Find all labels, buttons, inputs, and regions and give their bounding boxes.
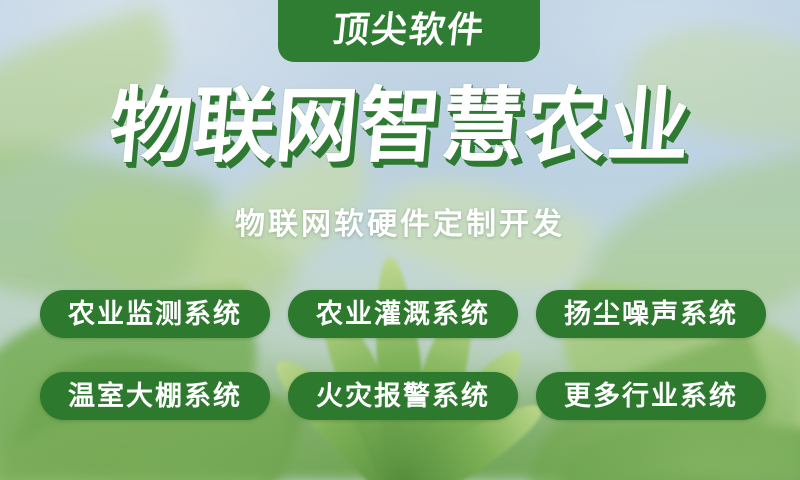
pill-agriculture-irrigation[interactable]: 农业灌溉系统 — [288, 290, 518, 338]
banner-content: 顶尖软件 物联网智慧农业 物联网软硬件定制开发 农业监测系统 农业灌溉系统 扬尘… — [0, 0, 800, 480]
pill-dust-noise[interactable]: 扬尘噪声系统 — [536, 290, 766, 338]
system-pill-list: 农业监测系统 农业灌溉系统 扬尘噪声系统 温室大棚系统 火灾报警系统 更多行业系… — [40, 290, 766, 420]
brand-badge: 顶尖软件 — [278, 0, 540, 62]
pill-more-industries[interactable]: 更多行业系统 — [536, 372, 766, 420]
page-title: 物联网智慧农业 — [0, 86, 800, 168]
page-subtitle: 物联网软硬件定制开发 — [0, 210, 800, 240]
promo-banner: 顶尖软件 物联网智慧农业 物联网软硬件定制开发 农业监测系统 农业灌溉系统 扬尘… — [0, 0, 800, 480]
system-pill-row-2: 温室大棚系统 火灾报警系统 更多行业系统 — [40, 372, 766, 420]
pill-agriculture-monitoring[interactable]: 农业监测系统 — [40, 290, 270, 338]
brand-badge-label: 顶尖软件 — [331, 13, 487, 49]
system-pill-row-1: 农业监测系统 农业灌溉系统 扬尘噪声系统 — [40, 290, 766, 338]
pill-greenhouse[interactable]: 温室大棚系统 — [40, 372, 270, 420]
pill-fire-alarm[interactable]: 火灾报警系统 — [288, 372, 518, 420]
